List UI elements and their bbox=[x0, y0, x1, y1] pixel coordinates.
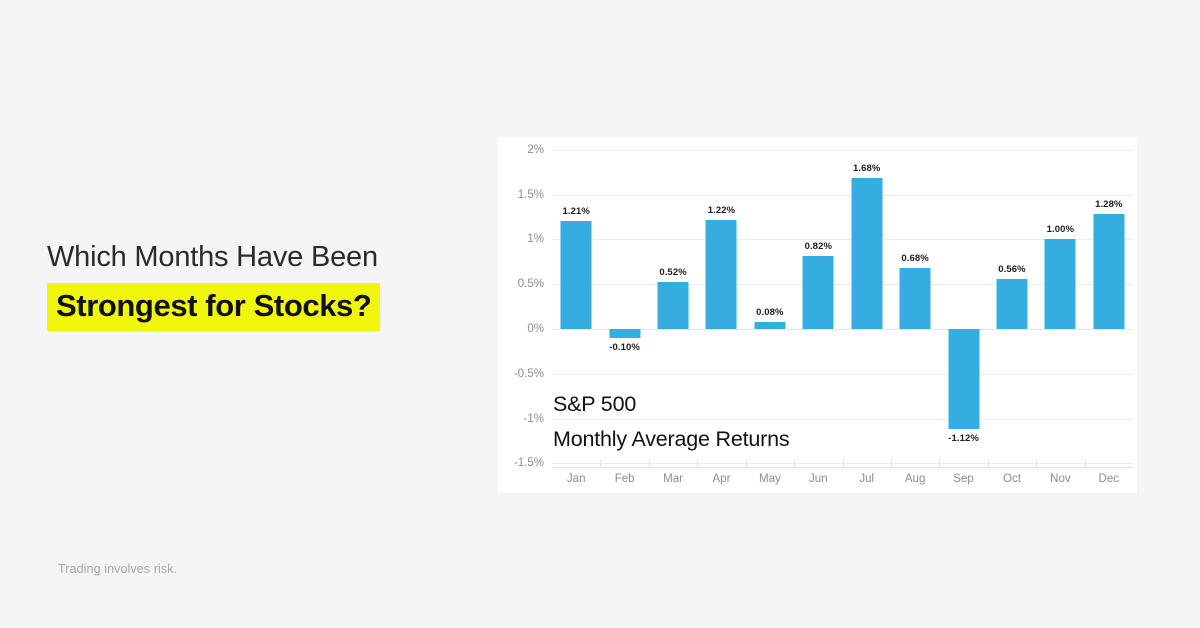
x-axis-tick-label: Mar bbox=[663, 473, 683, 485]
bar[interactable] bbox=[609, 329, 640, 338]
bar[interactable] bbox=[658, 282, 689, 329]
bar-value-label: 0.08% bbox=[756, 307, 783, 318]
bar-value-label: -0.10% bbox=[609, 342, 640, 353]
x-axis-tick-label: Jun bbox=[809, 473, 828, 485]
x-axis-tick-label: Feb bbox=[615, 473, 635, 485]
bar-column[interactable]: -1.12% bbox=[939, 137, 987, 493]
x-axis-tick-label: Oct bbox=[1003, 473, 1021, 485]
bar[interactable] bbox=[803, 256, 834, 329]
bar-value-label: 0.68% bbox=[901, 253, 928, 264]
headline-line-2-highlighted: Strongest for Stocks? bbox=[47, 283, 380, 331]
x-axis-tick-label: Aug bbox=[905, 473, 925, 485]
x-axis-tick-mark bbox=[1085, 460, 1086, 468]
bar[interactable] bbox=[948, 329, 979, 429]
y-axis-tick-label: -0.5% bbox=[484, 368, 544, 380]
y-axis-tick-label: 0% bbox=[484, 323, 544, 335]
bar-column[interactable]: 1.68% bbox=[843, 137, 891, 493]
y-axis-tick-label: -1.5% bbox=[484, 457, 544, 469]
bar-value-label: 1.22% bbox=[708, 205, 735, 216]
x-axis-tick-mark bbox=[988, 460, 989, 468]
bar[interactable] bbox=[561, 221, 592, 329]
bar-value-label: 1.00% bbox=[1047, 224, 1074, 235]
x-axis-tick-label: Apr bbox=[713, 473, 731, 485]
bar-value-label: 1.28% bbox=[1095, 199, 1122, 210]
bar-value-label: 0.82% bbox=[805, 241, 832, 252]
x-axis-tick-mark bbox=[746, 460, 747, 468]
bar[interactable] bbox=[996, 279, 1027, 329]
headline-block: Which Months Have Been Strongest for Sto… bbox=[47, 238, 467, 331]
y-axis-tick-label: 2% bbox=[484, 144, 544, 156]
bar[interactable] bbox=[1045, 239, 1076, 329]
bar[interactable] bbox=[900, 268, 931, 329]
bar-column[interactable]: 0.56% bbox=[988, 137, 1036, 493]
bar-column[interactable]: 0.68% bbox=[891, 137, 939, 493]
bar-value-label: 0.52% bbox=[659, 267, 686, 278]
y-axis-tick-label: 0.5% bbox=[484, 278, 544, 290]
bar-value-label: 1.68% bbox=[853, 163, 880, 174]
y-axis-tick-label: 1.5% bbox=[484, 189, 544, 201]
bar-value-label: 1.21% bbox=[562, 206, 589, 217]
x-axis-tick-label: May bbox=[759, 473, 781, 485]
x-axis-tick-mark bbox=[697, 460, 698, 468]
x-axis-tick-mark bbox=[1036, 460, 1037, 468]
x-axis-tick-mark bbox=[939, 460, 940, 468]
bar-column[interactable]: 1.00% bbox=[1036, 137, 1084, 493]
bar-value-label: -1.12% bbox=[948, 433, 979, 444]
bar-value-label: 0.56% bbox=[998, 264, 1025, 275]
x-axis-tick-mark bbox=[794, 460, 795, 468]
bar[interactable] bbox=[754, 322, 785, 329]
disclaimer-text: Trading involves risk. bbox=[58, 562, 177, 576]
x-axis-tick-mark bbox=[649, 460, 650, 468]
y-axis-tick-label: -1% bbox=[484, 413, 544, 425]
chart-caption-line-1: S&P 500 bbox=[553, 387, 789, 422]
x-axis-tick-label: Nov bbox=[1050, 473, 1070, 485]
chart-caption-line-2: Monthly Average Returns bbox=[553, 422, 789, 457]
chart-caption: S&P 500 Monthly Average Returns bbox=[553, 387, 789, 457]
x-axis-tick-label: Sep bbox=[953, 473, 973, 485]
headline-line-1: Which Months Have Been bbox=[47, 238, 467, 276]
bar[interactable] bbox=[706, 220, 737, 329]
x-axis-tick-label: Jul bbox=[859, 473, 874, 485]
x-axis-tick-label: Jan bbox=[567, 473, 586, 485]
bar[interactable] bbox=[851, 178, 882, 329]
bar-column[interactable]: 0.82% bbox=[794, 137, 842, 493]
x-axis-tick-label: Dec bbox=[1099, 473, 1119, 485]
chart-panel: 2%1.5%1%0.5%0%-0.5%-1%-1.5% 1.21%-0.10%0… bbox=[498, 137, 1137, 493]
bar[interactable] bbox=[1093, 214, 1124, 329]
x-axis-tick-mark bbox=[891, 460, 892, 468]
x-axis-tick-mark bbox=[600, 460, 601, 468]
headline-line-2-wrapper: Strongest for Stocks? bbox=[47, 283, 380, 331]
y-axis-tick-label: 1% bbox=[484, 233, 544, 245]
x-axis-tick-mark bbox=[843, 460, 844, 468]
bar-column[interactable]: 1.28% bbox=[1085, 137, 1133, 493]
